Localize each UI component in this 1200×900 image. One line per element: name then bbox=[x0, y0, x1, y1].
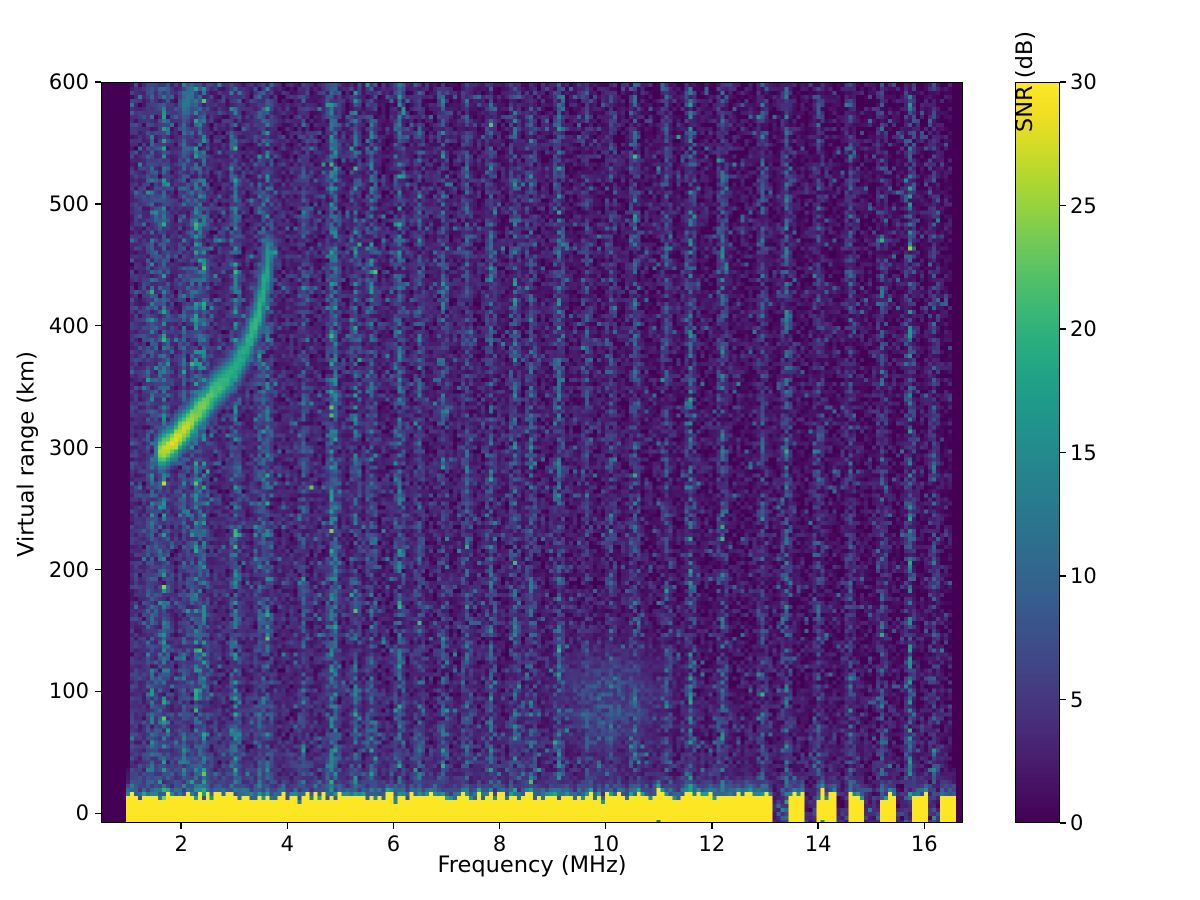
ionogram-heatmap bbox=[102, 83, 962, 822]
y-axis-label: Virtual range (km) bbox=[14, 84, 40, 825]
y-tick-label: 200 bbox=[37, 558, 89, 582]
colorbar-tick-label: 10 bbox=[1070, 564, 1097, 588]
x-tick-mark bbox=[393, 823, 394, 829]
y-tick-label: 0 bbox=[37, 801, 89, 825]
x-tick-mark bbox=[605, 823, 606, 829]
colorbar-tick-mark bbox=[1060, 81, 1066, 82]
y-tick-mark bbox=[95, 691, 101, 692]
colorbar-tick-mark bbox=[1060, 328, 1066, 329]
y-tick-mark bbox=[95, 569, 101, 570]
y-tick-mark bbox=[95, 813, 101, 814]
y-tick-mark bbox=[95, 203, 101, 204]
x-tick-mark bbox=[499, 823, 500, 829]
x-tick-mark bbox=[180, 823, 181, 829]
colorbar-tick-label: 0 bbox=[1070, 811, 1083, 835]
y-tick-mark bbox=[95, 447, 101, 448]
x-tick-mark bbox=[287, 823, 288, 829]
y-tick-label: 400 bbox=[37, 314, 89, 338]
colorbar-tick-mark bbox=[1060, 205, 1066, 206]
x-tick-mark bbox=[711, 823, 712, 829]
y-tick-mark bbox=[95, 325, 101, 326]
colorbar-tick-label: 5 bbox=[1070, 688, 1083, 712]
colorbar-tick-label: 15 bbox=[1070, 441, 1097, 465]
colorbar-tick-mark bbox=[1060, 699, 1066, 700]
colorbar-tick-mark bbox=[1060, 452, 1066, 453]
y-tick-mark bbox=[95, 81, 101, 82]
colorbar-tick-mark bbox=[1060, 822, 1066, 823]
colorbar-tick-label: 20 bbox=[1070, 317, 1097, 341]
colorbar-tick-label: 25 bbox=[1070, 194, 1097, 218]
y-tick-label: 300 bbox=[37, 436, 89, 460]
ionogram-figure: IRF Uppsala SDR Ionosonde UP158 2026-04-… bbox=[0, 0, 1200, 900]
y-tick-label: 100 bbox=[37, 679, 89, 703]
colorbar-label: SNR (dB) bbox=[1012, 0, 1038, 452]
x-tick-mark bbox=[817, 823, 818, 829]
colorbar-tick-mark bbox=[1060, 575, 1066, 576]
x-axis-label: Frequency (MHz) bbox=[101, 852, 963, 878]
y-tick-label: 600 bbox=[37, 70, 89, 94]
x-tick-mark bbox=[924, 823, 925, 829]
colorbar-tick-label: 30 bbox=[1070, 70, 1097, 94]
ionogram-plot-area[interactable] bbox=[101, 82, 963, 823]
y-tick-label: 500 bbox=[37, 192, 89, 216]
